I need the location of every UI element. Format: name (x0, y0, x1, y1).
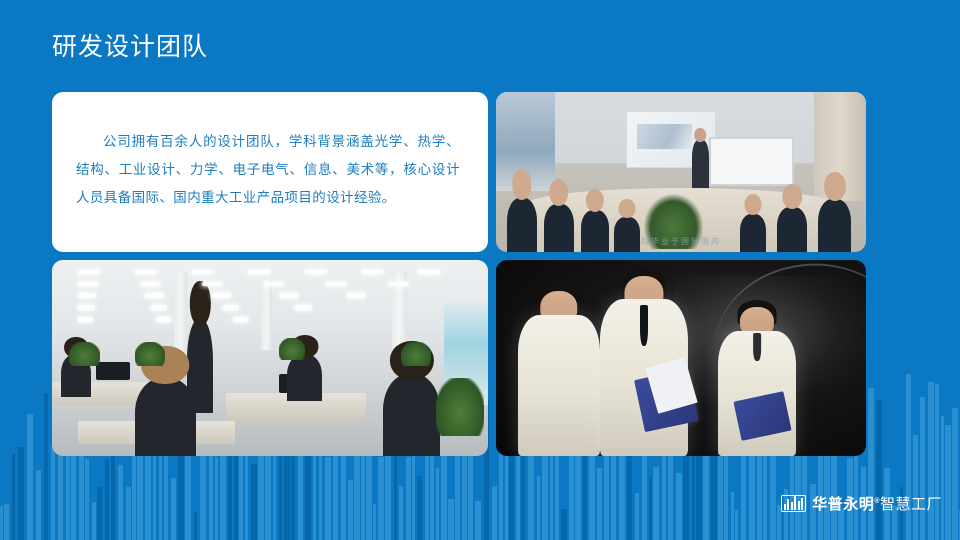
decorative-bar (51, 446, 55, 540)
photo-detail-labcoat (518, 315, 599, 456)
brand-name: 华普永明 (812, 496, 874, 513)
decorative-bar (44, 393, 48, 540)
photo-detail-plant (135, 342, 166, 366)
logo-mark-bar (794, 496, 796, 510)
decorative-bar (589, 447, 595, 540)
decorative-bar (913, 435, 918, 540)
bar-chart-icon (781, 495, 807, 512)
decorative-bar (251, 464, 257, 540)
decorative-bar (194, 512, 197, 540)
photo-detail-ceiling-light (78, 270, 100, 274)
logo-mark-bar (787, 499, 789, 510)
decorative-bar (868, 388, 874, 540)
decorative-bar (731, 492, 734, 540)
decorative-bar (475, 501, 481, 540)
photo-detail-ceiling-light (202, 282, 222, 286)
decorative-bar (234, 444, 238, 540)
photo-detail-ceiling-light (212, 293, 230, 298)
decorative-bar (696, 444, 702, 540)
photo-detail-ceiling-light (295, 305, 312, 310)
photo-detail-plant (69, 342, 100, 366)
decorative-bar (171, 478, 176, 540)
decorative-bar (920, 397, 925, 540)
decorative-bar (537, 476, 540, 540)
decorative-bar (876, 400, 882, 540)
photo-detail-ceiling-light (223, 305, 240, 310)
photo-detail-ceiling-light (362, 270, 384, 274)
page-title: 研发设计团队 (52, 30, 208, 64)
photo-detail-column (174, 272, 187, 358)
decorative-bar (118, 465, 123, 540)
decorative-bar (4, 504, 9, 540)
photo-detail-ceiling-light (248, 270, 270, 274)
decorative-bar (36, 470, 41, 540)
photo-detail-person (518, 315, 599, 456)
decorative-bar (319, 445, 322, 540)
photo-detail-person (718, 331, 796, 456)
decorative-bar (952, 408, 958, 540)
photo-detail-person (287, 354, 322, 401)
logo-mark-bar (798, 501, 800, 510)
decorative-bar (676, 473, 682, 540)
photo-detail-ceiling-light (192, 270, 214, 274)
photo-detail-ceiling-light (78, 293, 96, 298)
decorative-bar (406, 457, 411, 540)
photo-detail-ceiling-light (280, 293, 298, 298)
decorative-bar (12, 454, 15, 540)
decorative-bar (417, 476, 422, 540)
photo-detail-monitor (96, 362, 131, 380)
logo-mark-bar (791, 502, 793, 510)
logo-mark-bar (801, 498, 803, 510)
photo-detail-ceiling-light (145, 293, 163, 298)
decorative-bar (27, 414, 33, 540)
decorative-bar (378, 457, 384, 540)
photo-detail-lanyard (753, 333, 761, 361)
decorative-bar (561, 509, 567, 540)
decorative-bar (441, 450, 447, 540)
decorative-bar (649, 477, 652, 540)
photo-detail-ceiling-light (388, 282, 408, 286)
decorative-bar (941, 416, 944, 540)
decorative-bar (105, 459, 109, 540)
photo-detail-ceiling-light (347, 293, 365, 298)
photo-detail-ceiling-light (326, 282, 346, 286)
photo-detail-person (600, 299, 689, 456)
brand-logo: 华普永明®智慧工厂 (781, 493, 942, 514)
photo-detail-whiteboard (709, 137, 794, 186)
decorative-bar (935, 384, 939, 540)
decorative-bar (85, 459, 89, 540)
photo-detail-ceiling-light (264, 282, 284, 286)
description-text: 公司拥有百余人的设计团队，学科背景涵盖光学、热学、结构、工业设计、力学、电子电气… (76, 128, 460, 212)
decorative-bar (619, 443, 625, 540)
photo-detail-presenter (692, 140, 709, 188)
photo-detail-person (135, 378, 196, 456)
decorative-bar (373, 504, 376, 540)
photo-detail-ceiling-light (418, 270, 440, 274)
photo-detail-ceiling-light (140, 282, 160, 286)
decorative-bar (325, 457, 331, 540)
photo-detail-column (261, 280, 272, 351)
photo-detail-plant (436, 378, 484, 437)
photo-detail-ceiling-light (135, 270, 157, 274)
decorative-bar (220, 451, 226, 540)
photo-caption: 均毕业于国际国内 (496, 236, 866, 247)
office-floor-photo (52, 260, 488, 456)
photo-detail-ceiling-light (78, 305, 95, 310)
decorative-bar (945, 425, 951, 540)
decorative-bar (448, 499, 454, 540)
decorative-bar (164, 456, 168, 540)
photo-detail-plant (401, 342, 432, 366)
decorative-bar (635, 493, 639, 540)
decorative-bar (399, 486, 403, 540)
meeting-room-photo: 均毕业于国际国内 (496, 92, 866, 252)
decorative-bar (653, 467, 659, 540)
photo-detail-plant (279, 338, 305, 360)
decorative-bar (662, 450, 666, 540)
decorative-bar (97, 487, 102, 540)
decorative-bar (0, 506, 3, 540)
photo-detail-person (383, 374, 440, 456)
lab-team-photo (496, 260, 866, 456)
decorative-bar (492, 486, 497, 540)
decorative-bar (348, 480, 353, 540)
decorative-bar (126, 487, 131, 540)
photo-detail-ceiling-light (233, 317, 248, 322)
sub-brand-name: 智慧工厂 (880, 496, 942, 513)
photo-detail-tie (640, 305, 648, 346)
decorative-bar (928, 382, 934, 540)
decorative-bar (436, 468, 439, 540)
description-card: 公司拥有百余人的设计团队，学科背景涵盖光学、热学、结构、工业设计、力学、电子电气… (52, 92, 488, 252)
photo-detail-ceiling-light (78, 317, 93, 322)
decorative-bar (18, 447, 24, 540)
photo-detail-ceiling-light (156, 317, 171, 322)
decorative-bar (258, 446, 264, 540)
decorative-bar (215, 457, 218, 540)
decorative-bar (597, 468, 602, 540)
photo-detail-ceiling-light (151, 305, 168, 310)
slide-canvas: 研发设计团队 公司拥有百余人的设计团队，学科背景涵盖光学、热学、结构、工业设计、… (0, 0, 960, 540)
logo-mark-bar (784, 504, 786, 510)
photo-detail-ceiling-light (305, 270, 327, 274)
photo-detail-ceiling-light (78, 282, 98, 286)
decorative-bar (735, 510, 738, 540)
brand-logo-text: 华普永明®智慧工厂 (812, 493, 942, 514)
decorative-bar (92, 502, 96, 540)
decorative-bar (906, 374, 911, 540)
content-grid: 公司拥有百余人的设计团队，学科背景涵盖光学、热学、结构、工业设计、力学、电子电气… (52, 92, 866, 456)
